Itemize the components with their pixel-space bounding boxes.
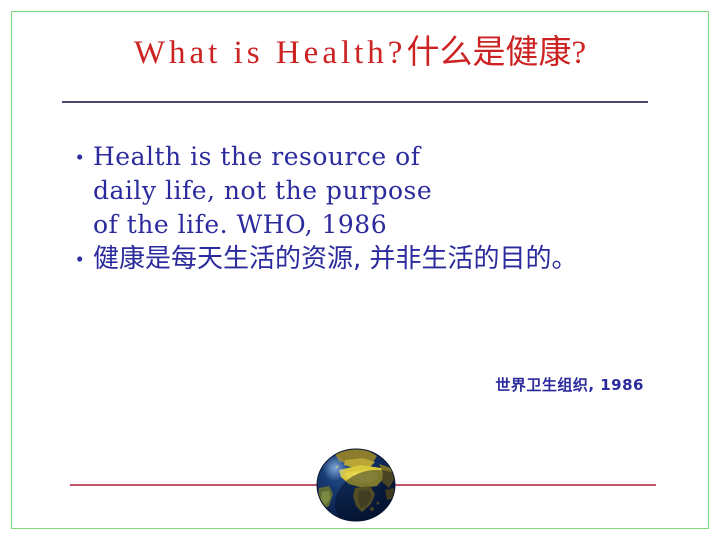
slide-title-english: What is Health?: [134, 35, 407, 71]
attribution-source: 世界卫生组织, 1986: [0, 374, 644, 395]
presentation-slide: What is Health?什么是健康? • Health is the re…: [0, 0, 720, 540]
slide-title: What is Health?什么是健康?: [0, 32, 720, 74]
slide-body: • Health is the resource of daily life, …: [76, 140, 646, 276]
bullet-marker-icon: •: [76, 242, 93, 276]
globe-earth-icon: [315, 446, 397, 524]
bullet-text-english: Health is the resource of daily life, no…: [93, 140, 646, 242]
bullet-item-chinese: • 健康是每天生活的资源, 并非生活的目的。: [76, 242, 646, 276]
slide-title-chinese: 什么是健康?: [406, 35, 586, 71]
title-divider-rule: [62, 101, 648, 103]
bullet-marker-icon: •: [76, 140, 93, 174]
bullet-item-english: • Health is the resource of daily life, …: [76, 140, 646, 242]
bullet-text-chinese: 健康是每天生活的资源, 并非生活的目的。: [93, 242, 646, 276]
